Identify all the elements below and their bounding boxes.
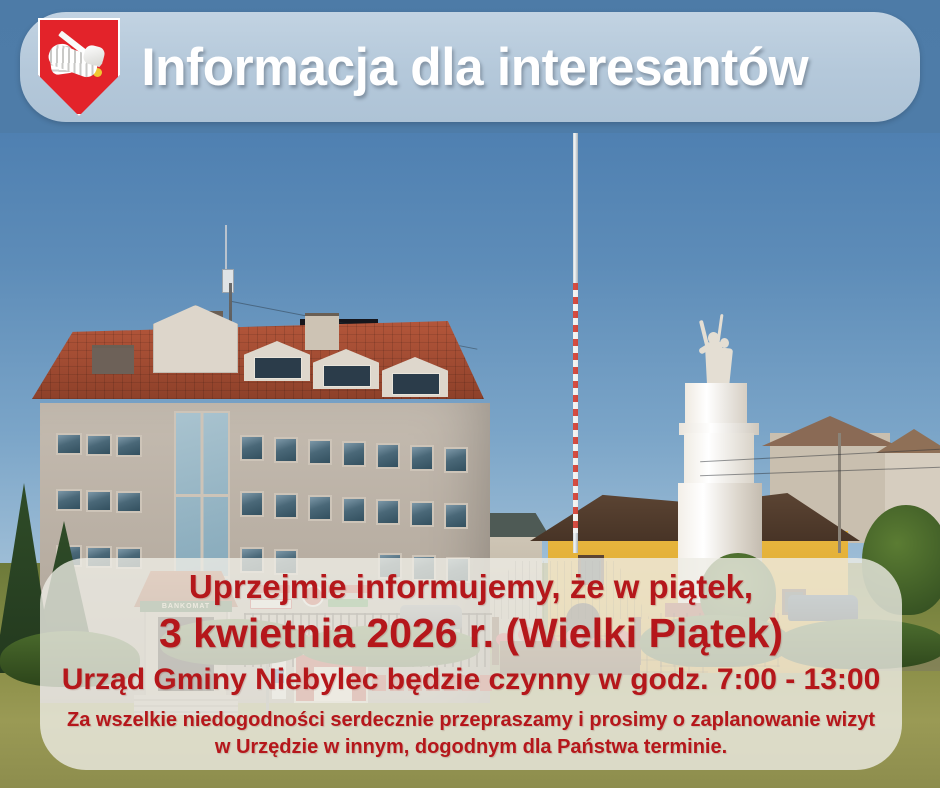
facade-window — [274, 493, 298, 519]
facade-window — [308, 439, 332, 465]
facade-window — [342, 497, 366, 523]
facade-window — [56, 433, 82, 455]
poster-canvas: BANKOMAT — [0, 0, 940, 788]
antenna-box — [222, 269, 234, 293]
facade-window — [410, 445, 434, 471]
facade-window — [86, 490, 112, 512]
statue-head-b — [720, 338, 729, 348]
statue-head-a — [708, 332, 719, 344]
roof-gable — [153, 305, 238, 373]
facade-window — [240, 435, 264, 461]
facade-window — [444, 503, 468, 529]
facade-window — [376, 499, 400, 525]
chimney — [305, 313, 339, 350]
utility-pole — [838, 433, 841, 553]
coat-of-arms-icon — [38, 18, 120, 116]
facade-window — [116, 435, 142, 457]
notice-line-5: w Urzędzie w innym, dogodnym dla Państwa… — [215, 734, 727, 761]
facade-window — [240, 491, 264, 517]
notice-line-1: Uprzejmie informujemy, że w piątek, — [189, 567, 753, 607]
header-banner: Informacja dla interesantów — [20, 12, 920, 122]
chimney — [92, 345, 134, 374]
notice-line-4: Za wszelkie niedogodności serdecznie prz… — [67, 707, 875, 734]
page-title: Informacja dla interesantów — [120, 37, 896, 98]
facade-window — [308, 495, 332, 521]
facade-window — [410, 501, 434, 527]
facade-window — [56, 489, 82, 511]
notice-panel: Uprzejmie informujemy, że w piątek, 3 kw… — [40, 558, 902, 770]
notice-line-3: Urząd Gminy Niebylec będzie czynny w god… — [62, 661, 881, 699]
facade-window — [116, 491, 142, 513]
facade-window — [444, 447, 468, 473]
facade-window — [342, 441, 366, 467]
facade-window — [274, 437, 298, 463]
notice-line-2: 3 kwietnia 2026 r. (Wielki Piątek) — [159, 609, 783, 657]
facade-window — [376, 443, 400, 469]
facade-window — [86, 434, 112, 456]
monument-statue — [690, 326, 740, 388]
flag-pole-striped-section — [573, 283, 578, 533]
monument-upper-block — [685, 383, 747, 427]
